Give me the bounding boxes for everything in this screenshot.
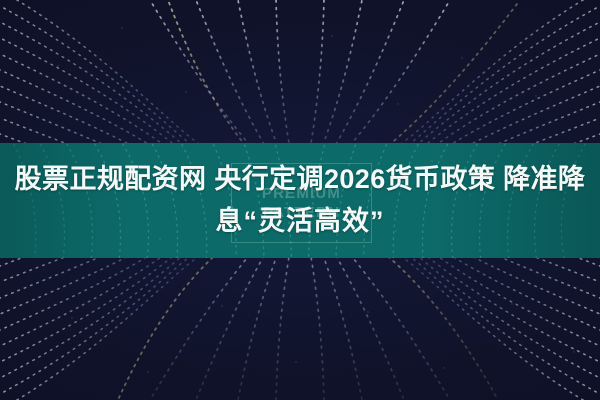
headline: 股票正规配资网 央行定调2026货币政策 降准降 息“灵活高效” — [0, 158, 600, 242]
cover-banner: PREMIUM PATTERN 股票正规配资网 央行定调2026货币政策 降准降… — [0, 0, 600, 400]
headline-line-1: 股票正规配资网 央行定调2026货币政策 降准降 — [14, 158, 586, 200]
headline-line-2: 息“灵活高效” — [14, 200, 586, 242]
